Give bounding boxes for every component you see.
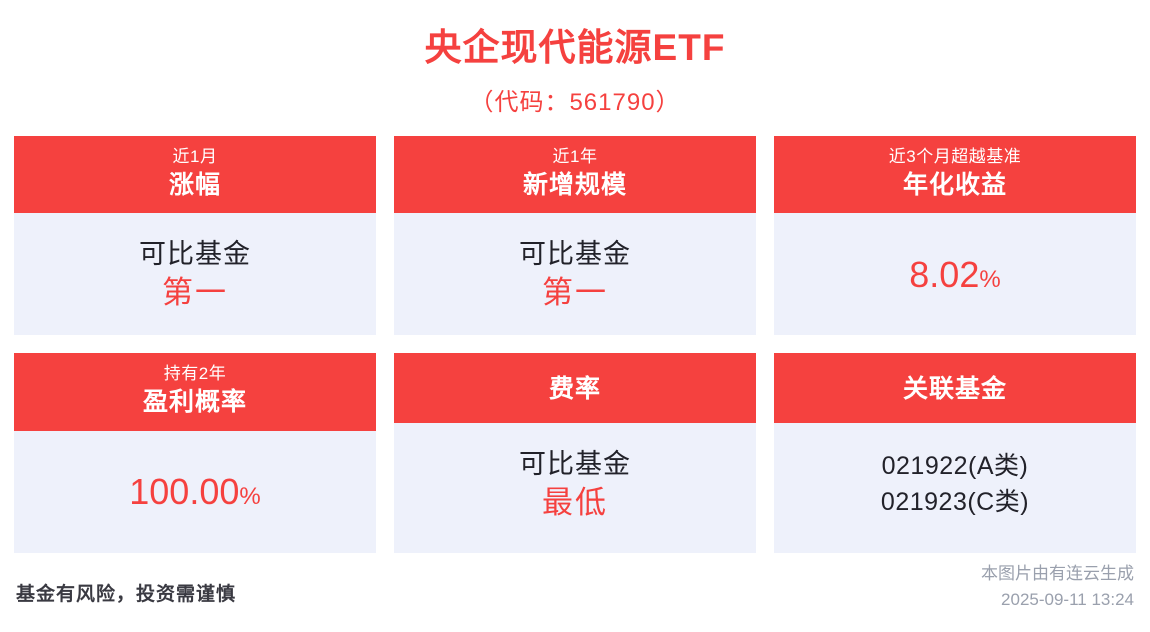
card-body: 可比基金 最低 bbox=[394, 423, 756, 545]
card-body: 可比基金 第一 bbox=[394, 213, 756, 335]
card-header-sub: 近1年 bbox=[398, 146, 752, 168]
card-header-main: 新增规模 bbox=[398, 170, 752, 201]
card-header: 费率 bbox=[394, 353, 756, 423]
card-header-sub: 近1月 bbox=[18, 146, 372, 168]
card-header: 关联基金 bbox=[774, 353, 1136, 423]
card-body-highlight: 最低 bbox=[542, 484, 608, 521]
metric-card-grid: 近1月 涨幅 可比基金 第一 近1年 新增规模 可比基金 第一 近3个月超越基准 bbox=[14, 136, 1136, 553]
metric-card-linked-funds: 关联基金 021922(A类) 021923(C类) bbox=[774, 353, 1136, 552]
card-header: 近1月 涨幅 bbox=[14, 136, 376, 213]
card-body: 8.02% bbox=[774, 213, 1136, 335]
card-body-number: 8.02 bbox=[909, 254, 979, 295]
card-header-sub: 近3个月超越基准 bbox=[778, 146, 1132, 168]
fund-code: （代码：561790） bbox=[0, 82, 1150, 117]
card-header-main: 年化收益 bbox=[778, 170, 1132, 201]
poster-root: 央企现代能源ETF （代码：561790） 近1月 涨幅 可比基金 第一 近1年… bbox=[0, 0, 1150, 632]
card-body-unit: % bbox=[979, 266, 1000, 293]
image-credit: 本图片由有连云生成 2025-09-11 13:24 bbox=[981, 561, 1134, 612]
card-body-value: 100.00% bbox=[129, 472, 260, 512]
card-header-main: 费率 bbox=[549, 374, 601, 405]
poster-header: 央企现代能源ETF （代码：561790） bbox=[0, 0, 1150, 117]
card-body: 100.00% bbox=[14, 431, 376, 553]
metric-card-yearly-scale: 近1年 新增规模 可比基金 第一 bbox=[394, 136, 756, 335]
card-body: 021922(A类) 021923(C类) bbox=[774, 423, 1136, 545]
card-body-label: 可比基金 bbox=[139, 238, 251, 272]
card-body-label: 可比基金 bbox=[519, 448, 631, 482]
card-body-label: 可比基金 bbox=[519, 238, 631, 272]
card-header-main: 关联基金 bbox=[903, 374, 1007, 405]
metric-card-fee-rate: 费率 可比基金 最低 bbox=[394, 353, 756, 552]
page-title: 央企现代能源ETF bbox=[0, 24, 1150, 72]
card-body-unit: % bbox=[239, 483, 260, 510]
card-body-value: 8.02% bbox=[909, 255, 1000, 295]
poster-footer: 基金有风险，投资需谨慎 本图片由有连云生成 2025-09-11 13:24 bbox=[0, 566, 1150, 614]
metric-card-excess-return: 近3个月超越基准 年化收益 8.02% bbox=[774, 136, 1136, 335]
card-body-highlight: 第一 bbox=[542, 274, 608, 311]
image-credit-timestamp: 2025-09-11 13:24 bbox=[981, 587, 1134, 613]
metric-card-monthly-gain: 近1月 涨幅 可比基金 第一 bbox=[14, 136, 376, 335]
card-body-number: 100.00 bbox=[129, 471, 239, 512]
card-header: 近3个月超越基准 年化收益 bbox=[774, 136, 1136, 213]
card-body-highlight: 第一 bbox=[162, 274, 228, 311]
linked-fund-a: 021922(A类) bbox=[882, 448, 1029, 484]
metric-card-profit-probability: 持有2年 盈利概率 100.00% bbox=[14, 353, 376, 552]
linked-fund-c: 021923(C类) bbox=[881, 484, 1029, 520]
card-body: 可比基金 第一 bbox=[14, 213, 376, 335]
card-header-main: 盈利概率 bbox=[18, 387, 372, 418]
card-header: 近1年 新增规模 bbox=[394, 136, 756, 213]
card-header: 持有2年 盈利概率 bbox=[14, 353, 376, 430]
risk-disclaimer: 基金有风险，投资需谨慎 bbox=[16, 579, 236, 606]
card-header-main: 涨幅 bbox=[18, 170, 372, 201]
card-header-sub: 持有2年 bbox=[18, 363, 372, 385]
image-credit-source: 本图片由有连云生成 bbox=[981, 561, 1134, 587]
